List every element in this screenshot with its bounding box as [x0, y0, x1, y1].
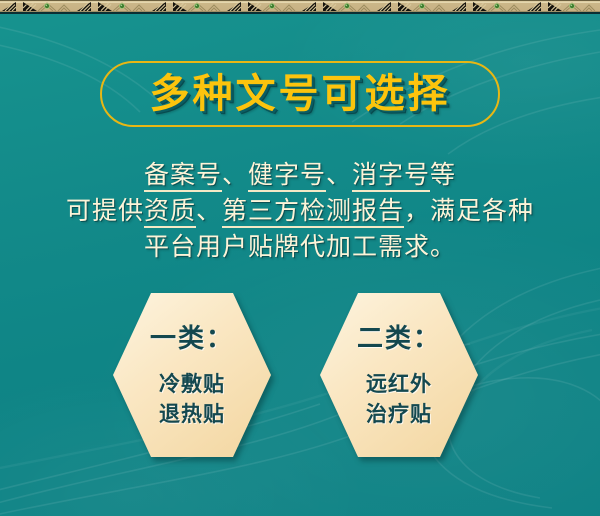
description-line-2-segment-4: 第三方检测报告 — [222, 198, 404, 228]
border-pattern-icon — [0, 0, 600, 14]
hexagon-shape-icon — [110, 290, 274, 460]
description-line-2-segment-3: 、 — [196, 198, 222, 225]
description-line-1-segment-3: 健字号 — [248, 162, 326, 192]
description-paragraph: 备案号、健字号、消字号等可提供资质、第三方检测报告，满足各种平台用户贴牌代加工需… — [0, 158, 600, 266]
page-title: 多种文号可选择 — [0, 60, 600, 128]
description-line-1-segment-1: 备案号 — [144, 162, 222, 192]
description-line-2-segment-2: 资质 — [144, 198, 196, 228]
top-ornamental-border — [0, 0, 600, 14]
description-line-1-segment-2: 、 — [222, 162, 248, 189]
hexagon-shape-icon — [317, 290, 481, 460]
description-line-2-segment-1: 可提供 — [66, 198, 144, 225]
description-line-2-segment-5: ，满足各种 — [404, 198, 534, 225]
description-line-3: 平台用户贴牌代加工需求。 — [0, 230, 600, 266]
category-card-two[interactable]: 二类： 远红外 治疗贴 — [317, 290, 481, 460]
description-line-3-segment-1: 平台用户贴牌代加工需求。 — [144, 234, 456, 261]
category-card-one[interactable]: 一类： 冷敷贴 退热贴 — [110, 290, 274, 460]
description-line-2: 可提供资质、第三方检测报告，满足各种 — [0, 194, 600, 230]
description-line-1-segment-5: 消字号 — [352, 162, 430, 192]
description-line-1-segment-4: 、 — [326, 162, 352, 189]
promo-poster: 多种文号可选择 备案号、健字号、消字号等可提供资质、第三方检测报告，满足各种平台… — [0, 0, 600, 516]
description-line-1-segment-6: 等 — [430, 162, 456, 189]
description-line-1: 备案号、健字号、消字号等 — [0, 158, 600, 194]
